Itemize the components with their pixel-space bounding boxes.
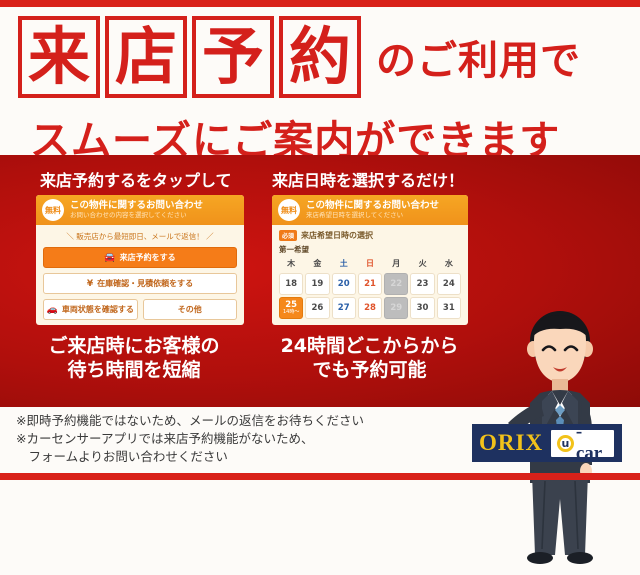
mockup-header: 無料 この物件に関するお問い合わせ お問い合わせの内容を選択してください: [36, 195, 244, 225]
calendar-day-selected[interactable]: 25 14時～: [279, 297, 303, 319]
inquiry-form-mockup: 無料 この物件に関するお問い合わせ お問い合わせの内容を選択してください ＼ 販…: [36, 195, 244, 325]
left-caption: ご来店時にお客様の 待ち時間を短縮: [14, 335, 254, 383]
calendar-day[interactable]: 18: [279, 273, 303, 295]
calendar-mockup: 無料 この物件に関するお問い合わせ 来店希望日時を選択してください 必須 来店希…: [272, 195, 468, 325]
calendar-day[interactable]: 27: [332, 297, 356, 319]
red-feature-section: 来店予約するをタップして 来店日時を選択するだけ！ 無料 この物件に関するお問い…: [0, 155, 640, 407]
selected-day-number: 25: [285, 301, 297, 310]
calendar-day[interactable]: 24: [437, 273, 461, 295]
calendar-day[interactable]: 19: [305, 273, 329, 295]
vehicle-condition-label: 車両状態を確認する: [62, 304, 134, 315]
calendar-day[interactable]: 28: [358, 297, 382, 319]
preference-label: 第一希望: [279, 244, 461, 255]
ucar-badge: u -car: [550, 429, 615, 458]
calendar-day[interactable]: 21: [358, 273, 382, 295]
calendar-section-title: 来店希望日時の選択: [301, 230, 373, 241]
top-red-rule: [0, 0, 640, 7]
right-caption: 24時間どこからから でも予約可能: [262, 335, 477, 383]
kanji-box-1: 来: [18, 16, 100, 98]
free-badge: 無料: [278, 199, 300, 221]
day-header-fri: 金: [305, 258, 329, 271]
reply-note: ＼ 販売店から最短即日、メールで返信！ ／: [36, 225, 244, 247]
orix-ucar-logo: ORIX u -car: [472, 424, 622, 462]
calendar-body: 必須 来店希望日時の選択 第一希望 木 金 土 日 月 火 水 18 19 20…: [272, 225, 468, 325]
calendar-day[interactable]: 20: [332, 273, 356, 295]
vehicle-condition-button[interactable]: 🚗 車両状態を確認する: [43, 299, 138, 320]
required-tag: 必須: [279, 230, 297, 241]
car-outline-icon: 🚗: [47, 305, 58, 315]
headline-tail: のご利用で: [376, 28, 581, 86]
car-icon: 🚘: [104, 253, 115, 263]
kanji-box-2: 店: [105, 16, 187, 98]
other-label: その他: [178, 304, 202, 315]
u-circle-icon: u: [557, 435, 574, 452]
calendar-day[interactable]: 31: [437, 297, 461, 319]
calendar-day-disabled: 22: [384, 273, 408, 295]
headline-block: 来 店 予 約 のご利用で スムーズにご案内ができます: [0, 7, 640, 155]
right-panel-title: 来店日時を選択するだけ！: [272, 167, 464, 191]
reserve-visit-label: 来店予約をする: [120, 252, 176, 263]
calendar-day[interactable]: 26: [305, 297, 329, 319]
footer-note: ※即時予約機能ではないため、メールの返信をお待ちください ※カーセンサーアプリで…: [16, 412, 446, 466]
left-panel-title: 来店予約するをタップして: [40, 167, 232, 191]
day-header-wed: 水: [437, 258, 461, 271]
day-header-tue: 火: [410, 258, 434, 271]
kanji-box-4: 約: [279, 16, 361, 98]
calendar-section-label: 必須 来店希望日時の選択: [279, 230, 461, 241]
stock-quote-label: 在庫確認・見積依頼をする: [97, 278, 193, 289]
orix-wordmark: ORIX: [479, 430, 543, 456]
reserve-visit-button[interactable]: 🚘 来店予約をする: [43, 247, 237, 268]
stock-quote-button[interactable]: ¥ 在庫確認・見積依頼をする: [43, 273, 237, 294]
day-header-thu: 木: [279, 258, 303, 271]
kanji-box-3: 予: [192, 16, 274, 98]
selected-day-time: 14時～: [283, 310, 299, 315]
day-header-sun: 日: [358, 258, 382, 271]
other-button[interactable]: その他: [143, 299, 238, 320]
boxed-kanji-row: 来 店 予 約 のご利用で: [18, 16, 581, 98]
day-header-sat: 土: [332, 258, 356, 271]
bottom-red-rule: [0, 473, 640, 480]
day-header-mon: 月: [384, 258, 408, 271]
ad-banner: 来 店 予 約 のご利用で スムーズにご案内ができます 来店予約するをタップして…: [0, 0, 640, 480]
calendar-mockup-header: 無料 この物件に関するお問い合わせ 来店希望日時を選択してください: [272, 195, 468, 225]
calendar-grid: 木 金 土 日 月 火 水 18 19 20 21 22 23 24 25: [279, 258, 461, 319]
secondary-button-row: 🚗 車両状態を確認する その他: [43, 299, 237, 320]
calendar-day[interactable]: 30: [410, 297, 434, 319]
calendar-day-disabled: 29: [384, 297, 408, 319]
free-badge: 無料: [42, 199, 64, 221]
mockup-header-subtitle: お問い合わせの内容を選択してください: [70, 212, 203, 219]
car-wordmark: -car: [576, 421, 608, 465]
yen-icon: ¥: [87, 279, 93, 289]
calendar-header-subtitle: 来店希望日時を選択してください: [306, 212, 439, 219]
calendar-day[interactable]: 23: [410, 273, 434, 295]
